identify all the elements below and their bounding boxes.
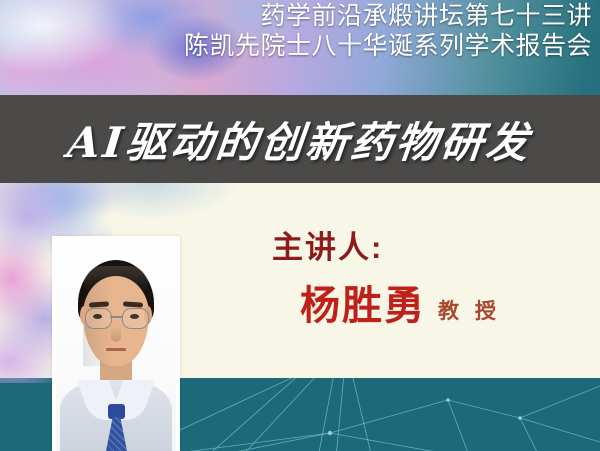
title-band: AI驱动的创新药物研发 xyxy=(0,95,600,183)
speaker-portrait xyxy=(56,240,176,451)
header-line-2: 陈凯先院士八十华诞系列学术报告会 xyxy=(162,32,592,62)
main-title: AI驱动的创新药物研发 xyxy=(65,109,535,170)
speaker-portrait-frame xyxy=(52,236,180,451)
portrait-nose xyxy=(111,326,121,342)
header-text-block: 药学前沿承煅讲坛第七十三讲 陈凯先院士八十华诞系列学术报告会 xyxy=(162,2,592,61)
seminar-poster: 药学前沿承煅讲坛第七十三讲 陈凯先院士八十华诞系列学术报告会 AI驱动的创新药物… xyxy=(0,0,600,451)
speaker-academic-title: 教 授 xyxy=(438,301,501,326)
portrait-mouth xyxy=(106,348,126,351)
header-line-1: 药学前沿承煅讲坛第七十三讲 xyxy=(162,2,592,32)
speaker-label: 主讲人: xyxy=(272,222,383,267)
portrait-glasses-bridge xyxy=(110,316,122,318)
speaker-row: 杨胜勇 教 授 xyxy=(300,286,501,326)
portrait-glasses-right-lens xyxy=(122,308,149,329)
portrait-glasses-left-lens xyxy=(85,308,112,329)
speaker-name: 杨胜勇 xyxy=(300,286,426,326)
portrait-tie-knot xyxy=(108,404,125,419)
